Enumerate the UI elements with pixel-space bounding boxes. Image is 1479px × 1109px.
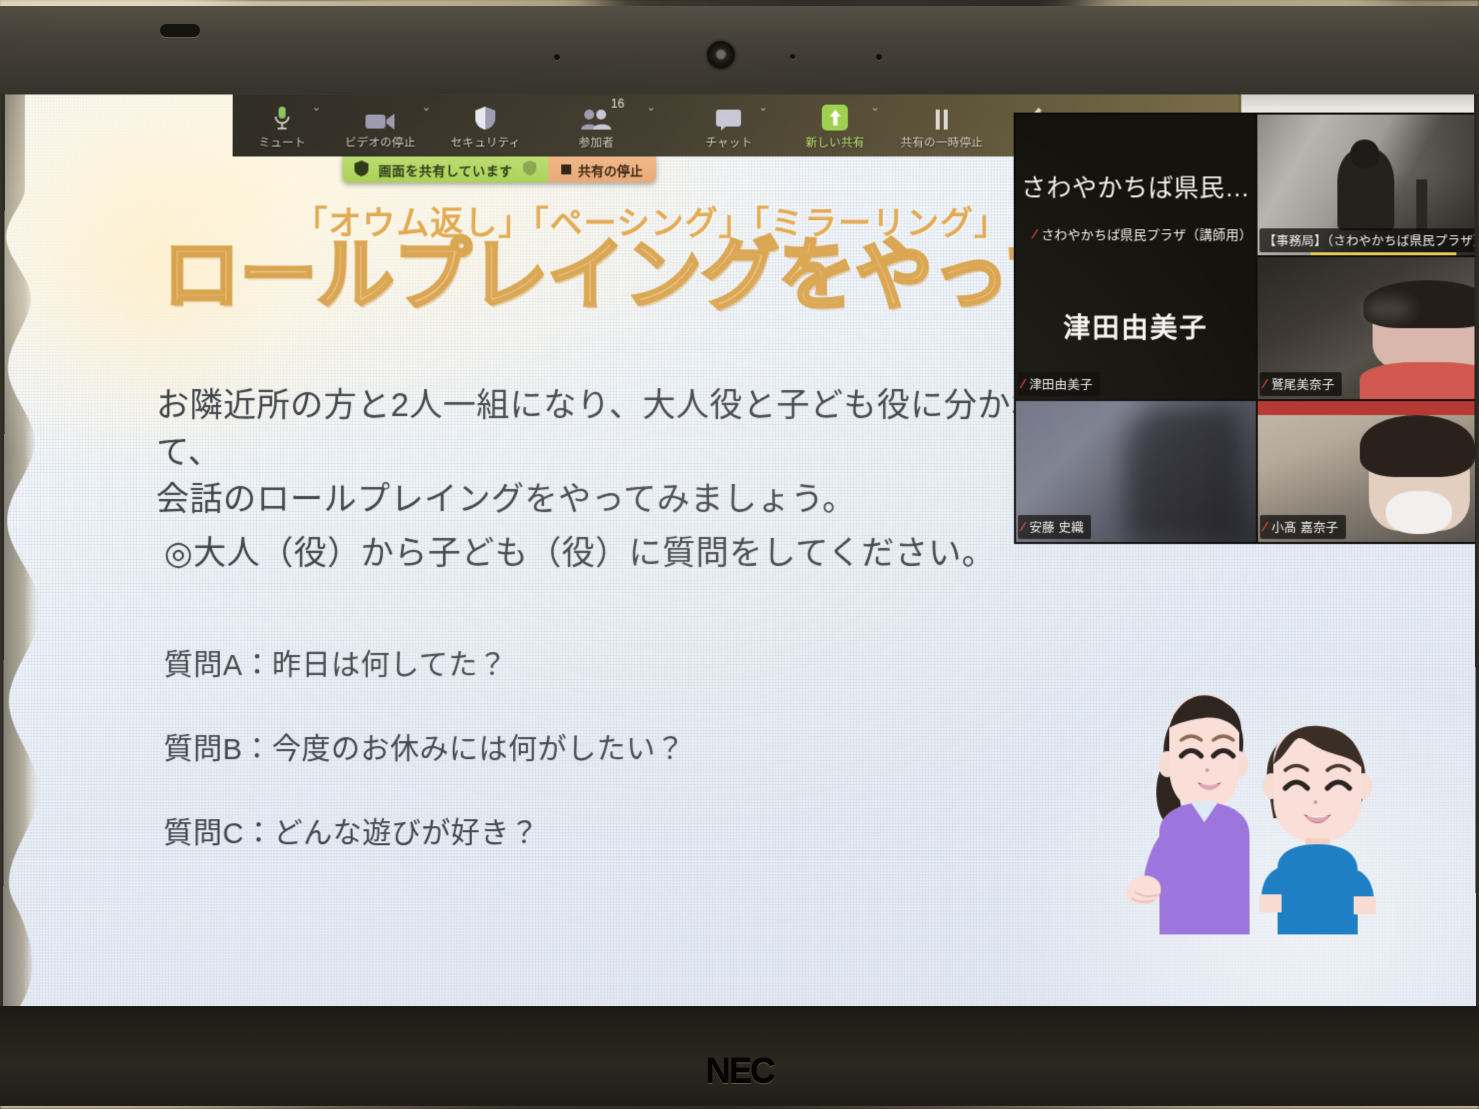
- video-tile-instructor[interactable]: さわやかちば県民… ⁄ さわやかちば県民プラザ（講師用） 津田由美子 ⁄ 津田由…: [1016, 115, 1256, 399]
- laptop: 「オウム返し」「ペーシング」「ミラーリング」 ロールプレイングをやってみ お隣近…: [0, 6, 1479, 1106]
- video-tile-participant-ando[interactable]: ⁄ 安藤 史織: [1016, 401, 1256, 542]
- question-a: 質問A：昨日は何してた？: [164, 642, 686, 684]
- participants-icon: [581, 103, 611, 130]
- stop-share-button[interactable]: 共有の停止: [548, 156, 656, 182]
- toolbar-label-new-share: 新しい共有: [806, 134, 865, 150]
- toolbar-button-pause-share[interactable]: 共有の一時停止: [904, 95, 980, 157]
- nec-brand-logo: NEC: [0, 1052, 1479, 1092]
- slide-note: ◎大人（役）から子ども（役）に質問をしてください。: [164, 526, 995, 574]
- pause-icon: [933, 103, 951, 130]
- toolbar-label-participants: 参加者: [579, 134, 614, 150]
- photo-scene: 「オウム返し」「ペーシング」「ミラーリング」 ロールプレイングをやってみ お隣近…: [0, 0, 1479, 1109]
- lid-latch-icon: [160, 24, 200, 37]
- slide-question-list: 質問A：昨日は何してた？ 質問B：今度のお休みには何がしたい？ 質問C：どんな遊…: [163, 642, 685, 894]
- video-tile-name-self: ⁄ 津田由美子: [1018, 372, 1100, 396]
- question-c: 質問C：どんな遊びが好き？: [163, 810, 685, 852]
- microphone-hole-icon: [554, 54, 560, 60]
- toolbar-label-pause-share: 共有の一時停止: [900, 134, 983, 150]
- toolbar-button-new-share[interactable]: 新しい共有: [802, 95, 869, 157]
- video-tile-office[interactable]: 【事務局】（さわやかちば県民プラザ）: [1257, 115, 1476, 256]
- video-camera-icon: [365, 103, 395, 130]
- adult-and-child-illustration: [1087, 672, 1418, 952]
- video-tile-participant-washio[interactable]: ⁄ 鷲尾美奈子: [1258, 258, 1476, 399]
- toolbar-button-chat[interactable]: チャット: [701, 95, 756, 157]
- shield-icon: [475, 103, 497, 130]
- muted-microphone-icon: ⁄: [1022, 377, 1024, 390]
- microphone-hole-icon: [876, 54, 882, 60]
- stop-share-label: 共有の停止: [578, 160, 643, 179]
- chat-bubble-icon: [716, 103, 741, 130]
- share-status: 画面を共有しています: [342, 156, 547, 182]
- toolbar-button-mute[interactable]: ミュート: [255, 95, 310, 157]
- slide-body: お隣近所の方と2人一組になり、大人役と子ども役に分かれて、 会話のロールプレイン…: [156, 382, 1056, 522]
- slide-body-line-1: お隣近所の方と2人一組になり、大人役と子ども役に分かれて、: [156, 382, 1056, 476]
- laptop-bottom-bezel: NEC: [0, 1006, 1479, 1106]
- screen-share-banner[interactable]: 画面を共有しています 共有の停止: [342, 156, 655, 182]
- video-tile-name-office: 【事務局】（さわやかちば県民プラザ）: [1259, 229, 1476, 253]
- share-secondary-shield-icon: [523, 160, 536, 178]
- video-tile-name-instructor: ⁄ さわやかちば県民プラザ（講師用）: [1030, 222, 1256, 246]
- laptop-top-bezel: [0, 6, 1479, 94]
- muted-microphone-icon: ⁄: [1022, 520, 1024, 533]
- microphone-icon: [274, 103, 291, 130]
- chevron-down-icon-chat[interactable]: ⌄: [758, 101, 767, 114]
- muted-microphone-icon: ⁄: [1034, 227, 1036, 240]
- video-tile-display-name: さわやかちば県民…: [1016, 168, 1256, 204]
- toolbar-label-chat: チャット: [705, 134, 752, 150]
- participant-video-panel[interactable]: さわやかちば県民… ⁄ さわやかちば県民プラザ（講師用） 津田由美子 ⁄ 津田由…: [1014, 113, 1475, 544]
- muted-microphone-icon: ⁄: [1264, 520, 1266, 533]
- video-tile-participant-odaka[interactable]: ⁄ 小髙 嘉奈子: [1258, 401, 1476, 542]
- chevron-down-icon-participants[interactable]: ⌄: [646, 101, 655, 114]
- toolbar-button-stop-video[interactable]: ビデオの停止: [341, 95, 420, 157]
- toolbar-label-security: セキュリティ: [451, 134, 521, 150]
- chevron-down-icon-new-share[interactable]: ⌄: [871, 101, 880, 114]
- video-tile-name-washio: ⁄ 鷲尾美奈子: [1260, 372, 1342, 396]
- share-shield-icon: [354, 160, 368, 179]
- webcam-icon: [707, 41, 735, 69]
- toolbar-button-participants[interactable]: 16 参加者: [570, 95, 622, 157]
- toolbar-label-stop-video: ビデオの停止: [345, 134, 416, 150]
- microphone-hole-icon: [790, 54, 795, 59]
- participants-count-badge: 16: [611, 97, 624, 111]
- slide-title: ロールプレイングをやってみ: [162, 236, 1158, 314]
- slide-body-line-2: 会話のロールプレイングをやってみましょう。: [156, 476, 1056, 523]
- toolbar-button-security[interactable]: セキュリティ: [453, 95, 519, 157]
- share-screen-icon: [822, 103, 848, 130]
- active-speaker-underline: [1311, 253, 1457, 256]
- toolbar-label-mute: ミュート: [259, 134, 306, 150]
- question-b: 質問B：今度のお休みには何がしたい？: [164, 726, 686, 768]
- muted-microphone-icon: ⁄: [1264, 377, 1266, 390]
- laptop-screen: 「オウム返し」「ペーシング」「ミラーリング」 ロールプレイングをやってみ お隣近…: [3, 95, 1476, 1011]
- share-status-text: 画面を共有しています: [378, 160, 512, 179]
- video-tile-name-ando: ⁄ 安藤 史織: [1018, 515, 1091, 539]
- chevron-down-icon-mute[interactable]: ⌄: [312, 101, 321, 114]
- video-tile-name-odaka: ⁄ 小髙 嘉奈子: [1260, 515, 1346, 539]
- video-tile-speaker-name: 津田由美子: [1016, 306, 1256, 345]
- chevron-down-icon-video[interactable]: ⌄: [422, 101, 431, 114]
- stop-square-icon: [561, 164, 571, 174]
